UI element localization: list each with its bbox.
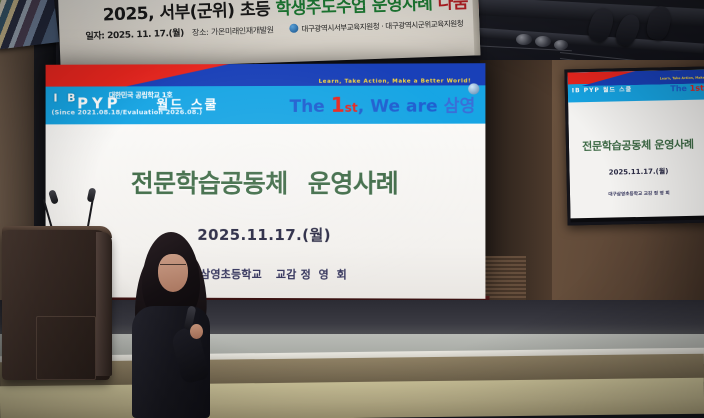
slide-title: 전문학습공동체운영사례 bbox=[46, 164, 486, 200]
ib-label: I B bbox=[53, 92, 78, 105]
presenter bbox=[128, 232, 224, 418]
slide-header: I B PYP 대한민국 공립학교 1호 월드 스쿨 (Since 2021.0… bbox=[46, 63, 486, 124]
monitor-byline: 대구삼영초등학교 교감 정 영 회 bbox=[570, 190, 704, 199]
stage-light-icon bbox=[535, 36, 551, 47]
monitor-slogan: The 1st, We ar bbox=[670, 83, 704, 93]
slogan-school: 삼영 bbox=[444, 96, 476, 116]
podium bbox=[2, 230, 110, 380]
slogan-rest: , We are bbox=[358, 97, 444, 117]
monitor-slide: IB PYP 월드 스쿨 Learn, Take Action, Make a … bbox=[567, 69, 704, 219]
slogan-number: 1 bbox=[331, 93, 345, 117]
banner-date-value: 2025. 11. 17.(월) bbox=[107, 29, 184, 42]
slide-title-main: 전문학습공동체 bbox=[131, 169, 288, 198]
ib-since-note: (Since 2021.08.18/Evaluation 2026.08.) bbox=[51, 108, 202, 116]
monitor-slide-header: IB PYP 월드 스쿨 Learn, Take Action, Make a … bbox=[567, 69, 704, 103]
monitor-ib-label: IB PYP 월드 스쿨 bbox=[572, 84, 632, 94]
monitor-slogan-the: The bbox=[670, 84, 690, 93]
banner-title-part2: 학생주도수업 운영사례 bbox=[275, 0, 438, 19]
banner-place-label: 장소: bbox=[192, 28, 209, 38]
auditorium-photo: 2025, 서부(군위) 초등 학생주도수업 운영사례 나눔 워크숍 일자: 2… bbox=[0, 0, 704, 418]
slogan-the: The bbox=[289, 97, 330, 117]
banner-place-value: 가온미래인재개발원 bbox=[211, 25, 274, 36]
globe-icon bbox=[289, 24, 298, 33]
monitor-title: 전문학습공동체 운영사례 bbox=[569, 136, 704, 155]
monitor-slogan-num: 1st bbox=[690, 84, 704, 93]
slide-role: 교감 bbox=[276, 268, 297, 281]
podium-side bbox=[96, 232, 112, 376]
hand bbox=[190, 324, 203, 339]
stage-light-icon bbox=[516, 34, 532, 45]
slogan-ordinal: st bbox=[345, 101, 358, 115]
school-logo-icon bbox=[468, 83, 479, 94]
decorative-poster bbox=[0, 0, 59, 50]
banner-date-label: 일자: bbox=[85, 31, 104, 42]
school-slogan: The 1st, We are 삼영 bbox=[289, 91, 475, 117]
banner-title-part1: 2025, 서부(군위) 초등 bbox=[102, 0, 276, 25]
monitor-date: 2025.11.17.(월) bbox=[569, 166, 704, 179]
monitor-motto: Learn, Take Action, Make a Better World! bbox=[660, 75, 704, 81]
slide-presenter-name: 정 영 회 bbox=[301, 268, 349, 281]
slide-title-sub: 운영사례 bbox=[308, 169, 398, 198]
glasses-icon bbox=[160, 264, 186, 272]
face bbox=[158, 254, 188, 292]
school-motto: Learn, Take Action, Make a Better World! bbox=[319, 78, 472, 84]
banner-date-place: 일자: 2025. 11. 17.(월) 장소: 가온미래인재개발원 bbox=[85, 23, 274, 43]
side-monitor: IB PYP 월드 스쿨 Learn, Take Action, Make a … bbox=[564, 67, 704, 226]
banner-organizers: 대구광역시서부교육지원청 · 대구광역시군위교육지원청 bbox=[301, 18, 463, 35]
podium-panel bbox=[36, 316, 96, 380]
